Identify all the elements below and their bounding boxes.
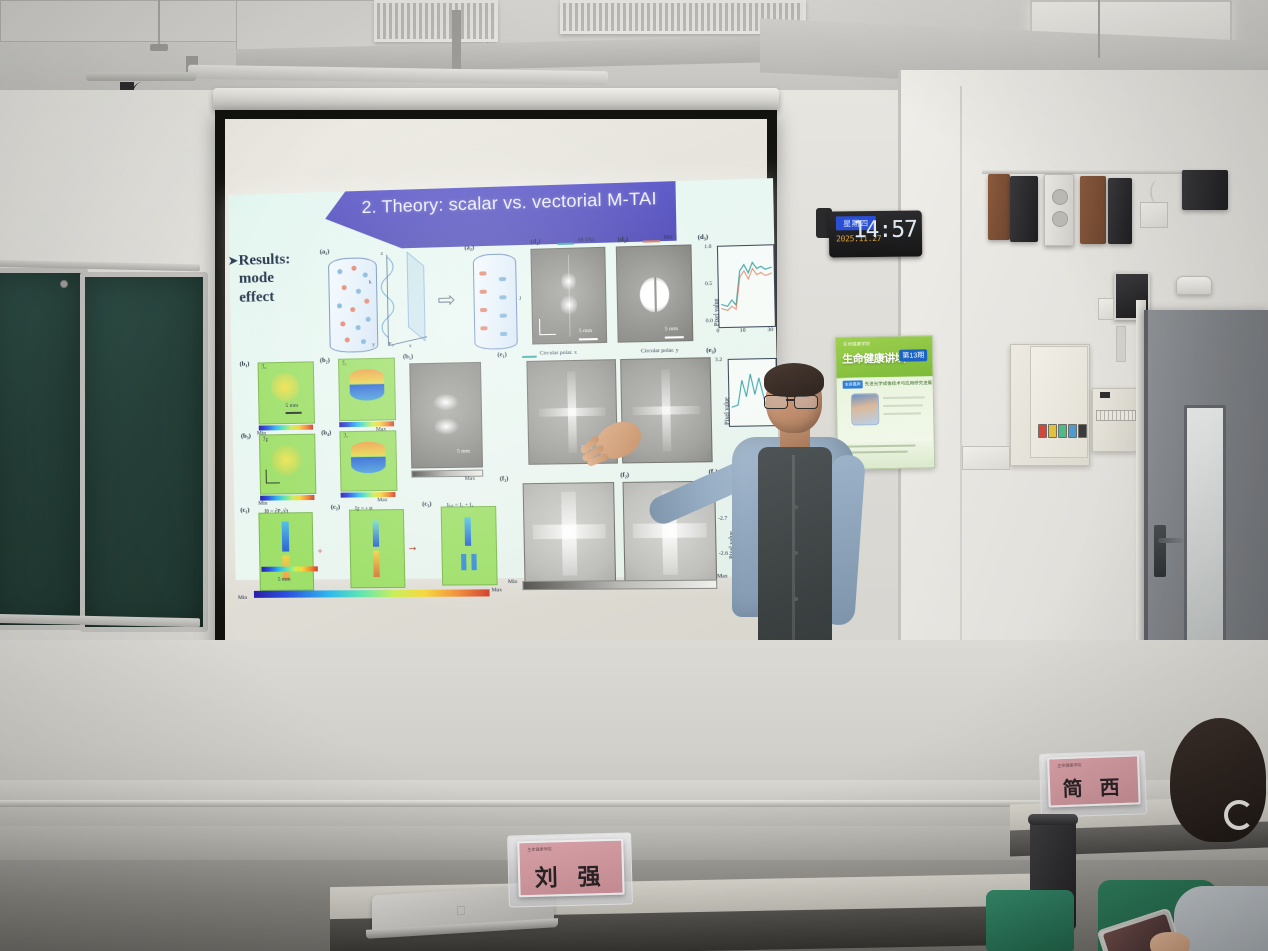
ceiling-panel — [0, 0, 238, 42]
ceiling-bracket — [452, 10, 461, 72]
panel-tag-c1: (c₁) — [240, 507, 249, 514]
nameplate-name: 简 西 — [1050, 770, 1139, 802]
caption-c1: Iθ = ∂P₁/∂t — [264, 508, 288, 514]
figure-wave-a1 — [376, 247, 433, 351]
wall-seam — [960, 86, 962, 646]
panel-tag-b1: (b₁) — [239, 361, 249, 368]
panel-display — [1100, 392, 1110, 398]
nameplate-card: 生命健康学院 简 西 — [1047, 754, 1141, 807]
colorbar-bottom-min: Min — [238, 595, 247, 601]
figure-image-b2 — [338, 358, 396, 422]
scalebar-label-b5: 5 mm — [457, 448, 470, 454]
ceiling-vent — [374, 0, 498, 42]
panel-tag-d1: (d₁) — [530, 238, 540, 245]
nameplate-name: 刘 强 — [520, 857, 623, 894]
axis-label-y-d3: Pixel value — [714, 298, 721, 326]
speaker-rail — [982, 170, 1192, 174]
trash-bin-lid — [1028, 814, 1078, 825]
figure-image-d1: 5 mm — [530, 247, 607, 345]
speaker-wood-2 — [1080, 176, 1106, 244]
colorbar-max-b5: Max — [465, 476, 475, 482]
xtick-d3-2: 10 — [740, 328, 746, 334]
panel-tag-e3: (e₃) — [706, 347, 716, 354]
wall-control-box[interactable] — [1140, 202, 1168, 228]
door-handle[interactable] — [1158, 538, 1184, 543]
scalebar-label-c1: 5 mm — [278, 577, 291, 583]
caption-b4: ℐᵥ — [343, 433, 347, 439]
bullet-arrow-icon: ➤ — [227, 253, 238, 269]
xtick-d3-3: 30 — [767, 327, 773, 333]
chalkboard-screw — [60, 280, 68, 288]
presenter-hair — [764, 363, 824, 397]
panel-tag-d2: (d₂) — [618, 236, 629, 243]
figure-image-f1 — [523, 482, 617, 585]
colorbar-b1 — [259, 425, 313, 431]
panel-tag-f1: (f₁) — [500, 475, 509, 482]
equals-arrow-icon: ➞ — [409, 543, 417, 554]
panel-switch-green[interactable] — [1058, 424, 1067, 438]
presenter-glasses — [764, 395, 824, 407]
legend-label-e2: Circular polar. y — [641, 348, 679, 355]
caption-c3: Iₜₒₜ = I₁ + I₂ — [447, 502, 474, 508]
audience-hand — [1150, 932, 1190, 951]
colorbar-b3 — [260, 495, 314, 501]
apple-logo-icon:  — [456, 903, 466, 919]
presenter-button — [794, 551, 798, 555]
colorbar-max-b4: Max — [377, 497, 387, 503]
panel-tag-a1: (a₁) — [320, 248, 330, 255]
colorbar-c1 — [261, 566, 317, 571]
panel-switch-black[interactable] — [1078, 424, 1087, 438]
nameplate-logo: 生命健康学院 — [527, 846, 551, 853]
panel-tag-c3: (c₃) — [422, 501, 432, 508]
speaker-cable — [1150, 180, 1166, 204]
ceiling-rod — [1098, 0, 1100, 58]
nameplate-card: 生命健康学院 刘 强 — [517, 839, 624, 898]
presenter-button — [794, 597, 798, 601]
panel-switch-yellow[interactable] — [1048, 424, 1057, 438]
ceiling-bracket — [150, 44, 168, 51]
speaker-white-1 — [1044, 174, 1074, 246]
projection-screen-case — [213, 88, 779, 110]
colorbar-gray-min: Min — [508, 579, 518, 585]
plus-symbol: + — [317, 546, 322, 556]
clock-time: 14:57 — [853, 219, 917, 243]
legend-swatch-pai — [643, 240, 660, 243]
legend-label-mtai: M-TAI — [578, 237, 594, 244]
figure-cylinder-a1 — [328, 257, 378, 353]
figure-image-b1: 5 mm — [258, 361, 315, 424]
wall-notice — [962, 446, 1010, 470]
speaker-black-3 — [1182, 170, 1228, 210]
ceiling-rod — [158, 0, 160, 46]
xtick-d3-1: 0 — [716, 328, 719, 334]
scalebar-label-d2: 5 mm — [665, 326, 678, 332]
caption-c2: I𝓏 = ∘ φ — [355, 505, 372, 512]
small-wall-box — [1098, 298, 1114, 320]
panel-switch-red[interactable] — [1038, 424, 1047, 438]
ytick-d3-3: 0.0 — [706, 318, 713, 324]
emergency-light — [1176, 276, 1212, 295]
panel-tag-b3: (b₃) — [241, 433, 251, 440]
label-j: J — [519, 296, 521, 302]
figure-image-c2 — [349, 509, 405, 588]
axis-letter-y: y — [372, 342, 375, 348]
colorbar-min-b3: Min — [258, 501, 267, 507]
nameplate-2: 生命健康学院 简 西 — [1039, 746, 1146, 824]
legend-swatch-e1 — [522, 356, 537, 358]
panel-tag-b5: (b₅) — [403, 353, 413, 360]
colorbar-bottom-max: Max — [492, 587, 503, 593]
slide-bullet-text: Results: mode effect — [238, 250, 321, 307]
door-window — [1184, 405, 1226, 646]
ytick-d3-1: 1.0 — [704, 244, 711, 250]
panel-tag-c2: (c₂) — [331, 504, 340, 511]
chair-green-1 — [986, 890, 1074, 951]
poster-org: 生命健康学院 — [843, 341, 870, 347]
door-lock[interactable] — [1154, 525, 1166, 577]
figure-cylinder-a2 — [473, 253, 518, 350]
speaker-wood-1 — [988, 174, 1010, 240]
conduit — [1116, 326, 1126, 362]
panel-tag-a2: (a₂) — [464, 244, 474, 251]
chalkboard-left — [0, 268, 88, 630]
axis-letter-k: k — [369, 279, 372, 285]
panel-tag-b4: (b₄) — [321, 429, 331, 436]
caption-b2: ℐᵧ — [342, 361, 346, 367]
panel-tag-b2: (b₂) — [320, 357, 330, 364]
nameplate-1: 生命健康学院 刘 强 — [507, 826, 631, 913]
electrical-panel-door[interactable] — [1030, 346, 1088, 458]
scalebar-label-d1: 5 mm — [579, 328, 592, 334]
figure-plot-d3 — [717, 244, 776, 328]
panel-tag-d3: (d₃) — [698, 234, 709, 241]
nameplate-logo: 生命健康学院 — [1057, 762, 1081, 769]
legend-label-e1: Circular polar. x — [540, 350, 577, 357]
lecture-hall-scene: 2. Theory: scalar vs. vectorial M-TAI ➤ … — [0, 0, 1268, 951]
figure-image-b5: 5 mm — [409, 362, 483, 469]
scalebar-label-b1: 5 mm — [285, 403, 298, 409]
headphone-icon — [1224, 800, 1254, 830]
figure-image-d2: 5 mm — [616, 244, 694, 342]
speaker-black-1 — [1010, 176, 1038, 242]
legend-swatch-mtai — [557, 243, 574, 245]
figure-image-b4 — [339, 430, 397, 491]
audience-hair — [1170, 718, 1266, 842]
poster-issue-badge: 第13期 — [899, 349, 927, 361]
speaker-black-2 — [1108, 178, 1132, 244]
caption-b3: ℐ𝓏 — [263, 436, 268, 443]
presenter-button — [794, 505, 798, 509]
ceiling-track — [86, 72, 196, 81]
audience-member — [1146, 718, 1268, 951]
chalkboard-right — [80, 272, 208, 632]
panel-switch-blue[interactable] — [1068, 424, 1077, 438]
ytick-d3-2: 0.5 — [705, 281, 712, 287]
legend-label-pai: PAI — [664, 235, 673, 241]
flow-arrow-icon: ⇨ — [437, 289, 455, 311]
panel-tag-e1: (e₁) — [497, 351, 507, 358]
panel-tag-f2: (f₂) — [620, 472, 629, 479]
figure-image-c3 — [441, 506, 498, 586]
colorbar-bottom-jet — [254, 589, 490, 598]
caption-b1: ℐₓ — [262, 364, 266, 370]
digital-clock: 星期四 2025.11.27 14:57 — [829, 211, 922, 258]
breaker-row[interactable] — [1096, 410, 1136, 421]
